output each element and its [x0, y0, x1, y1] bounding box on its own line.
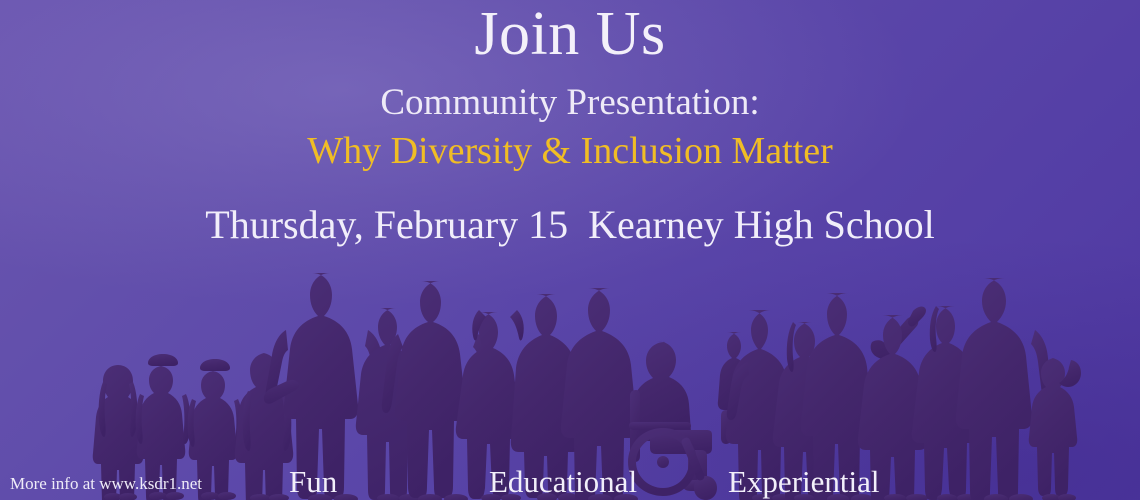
caption-fun: Fun: [289, 466, 337, 499]
event-details: Thursday, February 15 Kearney High Schoo…: [0, 203, 1140, 247]
poster-text-layer: Join Us Community Presentation: Why Dive…: [0, 0, 1140, 500]
poster-canvas: Join Us Community Presentation: Why Dive…: [0, 0, 1140, 500]
caption-educational: Educational: [489, 466, 637, 499]
presentation-topic: Why Diversity & Inclusion Matter: [0, 130, 1140, 173]
page-title: Join Us: [0, 2, 1140, 67]
more-info-link[interactable]: More info at www.ksdr1.net: [10, 475, 202, 492]
caption-experiential: Experiential: [728, 466, 880, 499]
subtitle: Community Presentation:: [0, 82, 1140, 123]
